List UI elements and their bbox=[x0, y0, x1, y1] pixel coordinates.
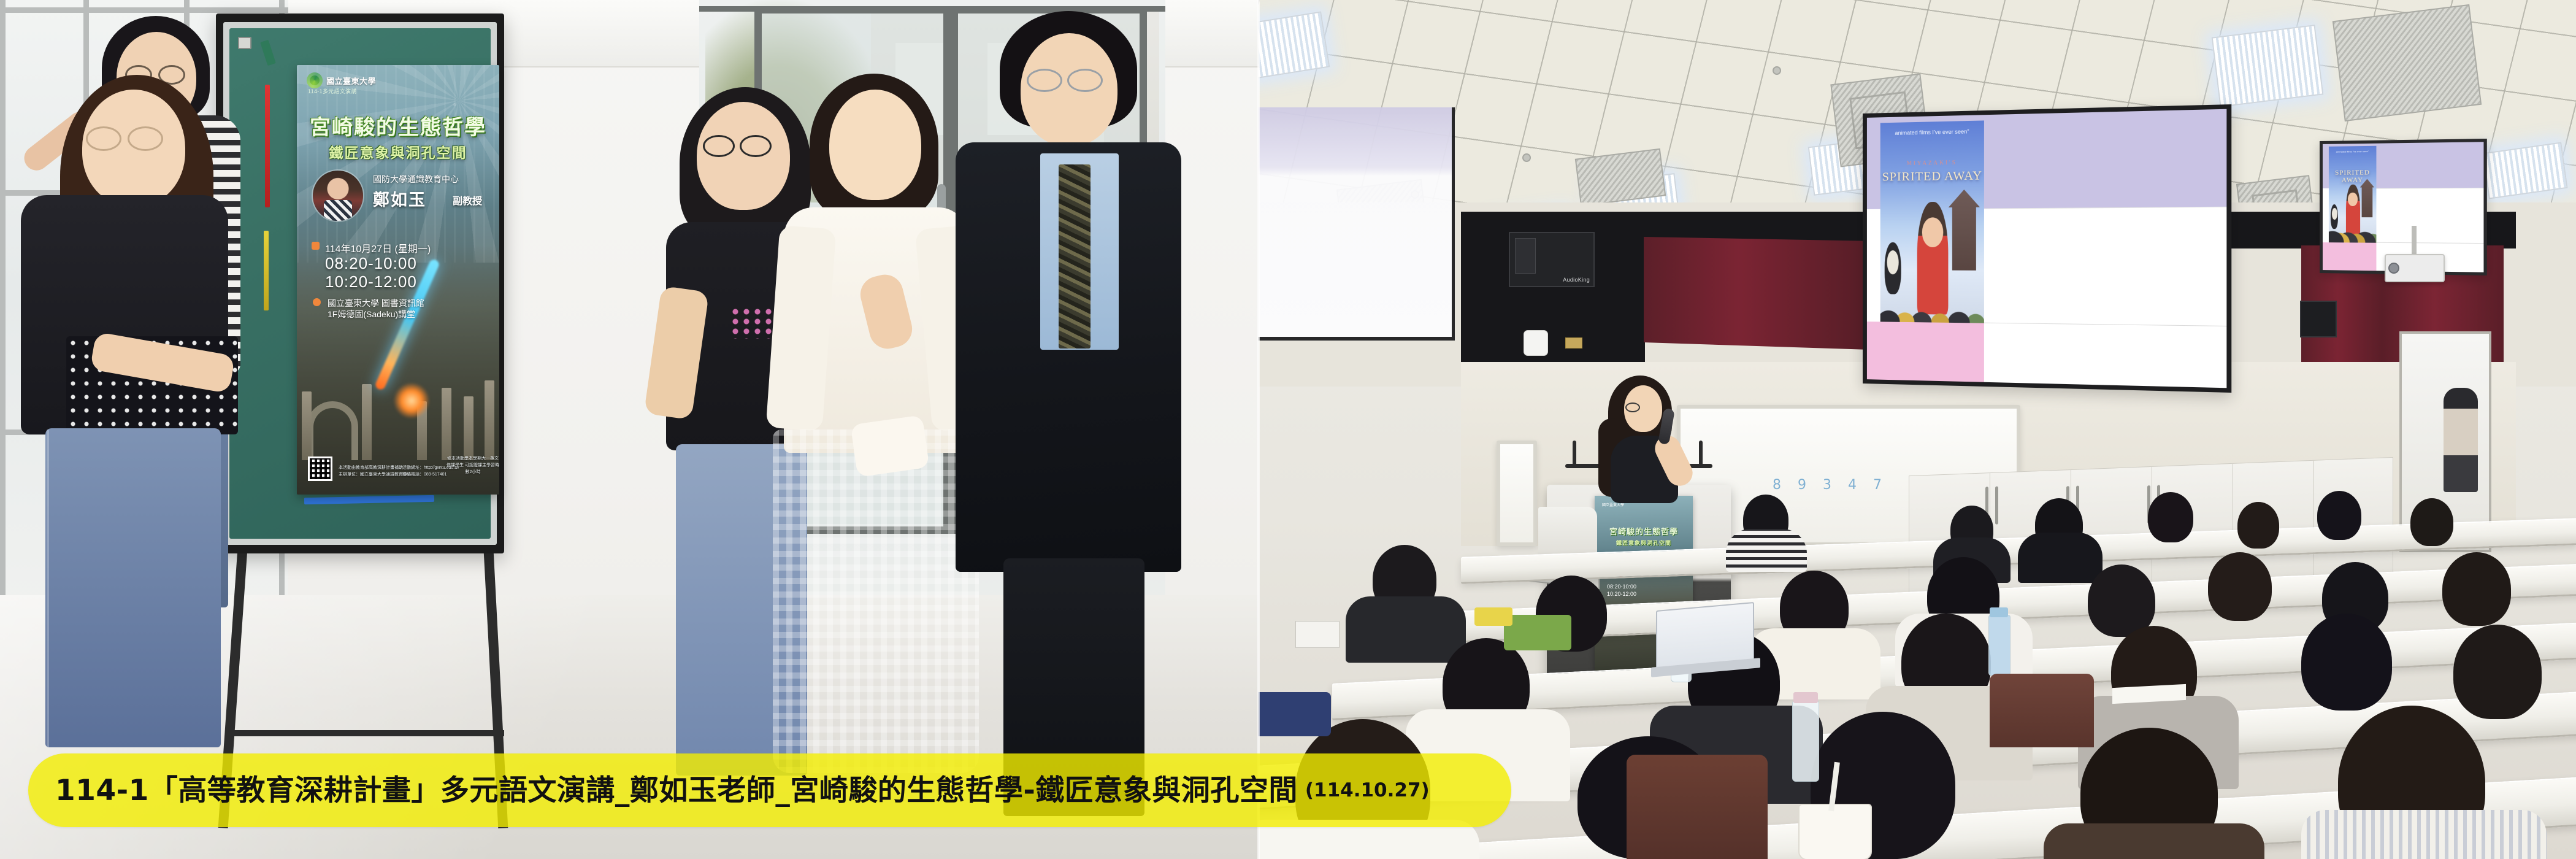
standing-person-by-door bbox=[2444, 388, 2478, 492]
magnet-green bbox=[260, 40, 276, 66]
audience-body bbox=[2044, 823, 2264, 859]
bottle-cap bbox=[1990, 607, 2008, 617]
drink-cup bbox=[1798, 804, 1872, 859]
wall-brass-plaque bbox=[1565, 337, 1582, 349]
desk-name-card bbox=[1295, 621, 1340, 648]
ceiling-light bbox=[2212, 25, 2324, 107]
audience-body bbox=[1726, 529, 1807, 572]
podium-poster-times: 08:20-10:00 10:20-12:00 bbox=[1607, 583, 1636, 598]
green-easel-board: 國立臺東大學 114-1多元語文演講 宮崎駿的生態哲學 鐵匠意象與洞孔空間 國防… bbox=[216, 13, 504, 553]
glasses-icon bbox=[1027, 69, 1062, 92]
wall-speaker-side bbox=[2300, 301, 2337, 337]
slide-film-quote-side: animated films I've ever seen" bbox=[2331, 150, 2374, 153]
presentation-slide: animated films I've ever seen" MIYAZAKI'… bbox=[1867, 109, 2226, 388]
ceiling-air-vent bbox=[2333, 4, 2482, 121]
podium-poster-subtitle: 鐵匠意象與洞孔空間 bbox=[1595, 539, 1693, 547]
poster-speaker-headshot bbox=[313, 171, 363, 221]
date-bullet-icon bbox=[312, 242, 320, 250]
poster-speaker-name: 鄭如玉 bbox=[373, 187, 426, 210]
screenshot-canvas: 國立臺東大學 114-1多元語文演講 宮崎駿的生態哲學 鐵匠意象與洞孔空間 國防… bbox=[0, 0, 2576, 859]
audience-head bbox=[2301, 614, 2392, 711]
university-swirl-icon bbox=[307, 72, 323, 88]
glasses-icon bbox=[1067, 69, 1103, 92]
poster-series-label: 114-1多元語文演講 bbox=[308, 87, 357, 95]
green-bag bbox=[1504, 615, 1571, 650]
poster-subtitle: 鐵匠意象與洞孔空間 bbox=[297, 141, 499, 162]
poster-speaker-rank: 副教授 bbox=[453, 193, 482, 207]
slide-film-title: SPIRITED AWAY bbox=[1880, 169, 1984, 184]
glasses-icon bbox=[128, 126, 163, 151]
ceiling-spotlight bbox=[1773, 66, 1781, 75]
speaker-grille bbox=[1515, 238, 1536, 274]
audience-head bbox=[2208, 552, 2272, 621]
poster-date: 114年10月27日 (星期一) bbox=[325, 241, 431, 255]
audience-head bbox=[2148, 492, 2193, 542]
yellow-item bbox=[1474, 607, 1512, 626]
audience-head bbox=[2237, 502, 2279, 549]
left-photo-group-portrait: 國立臺東大學 114-1多元語文演講 宮崎駿的生態哲學 鐵匠意象與洞孔空間 國防… bbox=[0, 0, 1259, 859]
wooden-chair-back bbox=[1627, 755, 1768, 859]
ruler-red-left bbox=[265, 85, 270, 207]
poster-footnote-left: 本活動由教育部高教深耕計畫補助 主辦單位：國立臺東大學通識教育中心 bbox=[339, 465, 412, 479]
event-poster: 國立臺東大學 114-1多元語文演講 宮崎駿的生態哲學 鐵匠意象與洞孔空間 國防… bbox=[297, 65, 499, 495]
poster-time-slot-2: 10:20-12:00 bbox=[325, 272, 417, 291]
glasses-icon bbox=[1625, 403, 1640, 412]
photo-seam-divider bbox=[1257, 0, 1260, 859]
projection-screen-main: animated films I've ever seen" MIYAZAKI'… bbox=[1863, 104, 2231, 393]
audience-body bbox=[2301, 810, 2547, 859]
poster-venue-line-2: 1F姆德固(Sadeku)講堂 bbox=[328, 308, 415, 320]
glasses-icon bbox=[86, 126, 121, 151]
tape-blue-bottom bbox=[304, 495, 434, 504]
poster-footnote-right: 修本活動學本學期大一英文修課學生 可認證課主學習時數2小時 bbox=[447, 456, 499, 476]
glasses-icon bbox=[703, 135, 735, 157]
ceiling-spotlight bbox=[1522, 153, 1531, 162]
poster-title: 宮崎駿的生態哲學 bbox=[297, 110, 499, 141]
audience-body bbox=[1346, 596, 1466, 663]
projector-lens-icon bbox=[2388, 263, 2399, 274]
qr-code-icon bbox=[308, 456, 332, 481]
easel-crossbar bbox=[228, 730, 504, 736]
slide-film-brand: MIYAZAKI'S bbox=[1880, 159, 1984, 167]
ruler-yellow bbox=[264, 231, 269, 310]
audience-head bbox=[2088, 564, 2155, 637]
projector-mount-arm bbox=[2412, 226, 2417, 255]
poster-university-logo: 國立臺東大學 bbox=[307, 72, 376, 88]
podium-poster-title: 宮崎駿的生態哲學 bbox=[1595, 525, 1693, 537]
poster-venue-line-1: 國立臺東大學 圖書資訊館 bbox=[328, 297, 424, 309]
audience-head bbox=[2410, 498, 2453, 546]
slide-film-quote: animated films I've ever seen" bbox=[1885, 128, 1980, 137]
right-photo-lecture-hall: AudioKing 8 9 3 4 7 animated films I've … bbox=[1259, 0, 2576, 859]
presentation-slide-mirror: animated films I've ever seen" SPIRITED … bbox=[2323, 142, 2484, 272]
audience-body bbox=[2018, 533, 2103, 583]
cabinet-handle[interactable] bbox=[1995, 487, 1998, 525]
board-clip-top-left bbox=[238, 37, 251, 49]
whiteboard-left-small bbox=[1497, 441, 1537, 546]
projection-wall-left bbox=[1259, 107, 1455, 341]
poster-university-name: 國立臺東大學 bbox=[326, 75, 376, 87]
venue-bullet-icon bbox=[313, 298, 321, 306]
caption-banner: 114-1「高等教育深耕計畫」多元語文演講_鄭如玉老師_宮崎駿的生態哲學-鐵匠意… bbox=[28, 753, 1511, 827]
wooden-chair-back bbox=[1990, 674, 2094, 747]
wall-wifi-ap-icon bbox=[1524, 330, 1548, 356]
audience-head bbox=[2317, 491, 2361, 540]
glasses-icon bbox=[740, 135, 772, 157]
audience-head bbox=[2442, 552, 2511, 626]
audience-head bbox=[2453, 625, 2542, 719]
spirited-away-poster-image-side: animated films I've ever seen" SPIRITED … bbox=[2329, 146, 2376, 243]
comet-impact-glow bbox=[394, 383, 429, 418]
caption-date: (114.10.27) bbox=[1305, 779, 1430, 801]
blue-bag bbox=[1259, 692, 1331, 736]
water-bottle bbox=[1988, 615, 2011, 676]
whiteboard-writing: 8 9 3 4 7 bbox=[1773, 477, 1888, 493]
poster-speaker-affiliation: 國防大學通識教育中心 bbox=[373, 173, 459, 185]
spirited-away-poster-image: animated films I've ever seen" MIYAZAKI'… bbox=[1880, 120, 1984, 323]
speaker-presenter bbox=[1602, 376, 1700, 498]
poster-time-slot-1: 08:20-10:00 bbox=[325, 254, 417, 273]
microphone-gooseneck bbox=[1573, 441, 1576, 466]
water-bottle-tall bbox=[1792, 701, 1819, 782]
speaker-brand-label: AudioKing bbox=[1563, 277, 1590, 283]
wall-speaker-audioking: AudioKing bbox=[1509, 232, 1595, 287]
caption-main-text: 114-1「高等教育深耕計畫」多元語文演講_鄭如玉老師_宮崎駿的生態哲學-鐵匠意… bbox=[55, 776, 1298, 805]
bottle-cap bbox=[1793, 692, 1818, 703]
ceiling-light bbox=[1259, 11, 1330, 79]
ceiling-light bbox=[2482, 142, 2567, 199]
